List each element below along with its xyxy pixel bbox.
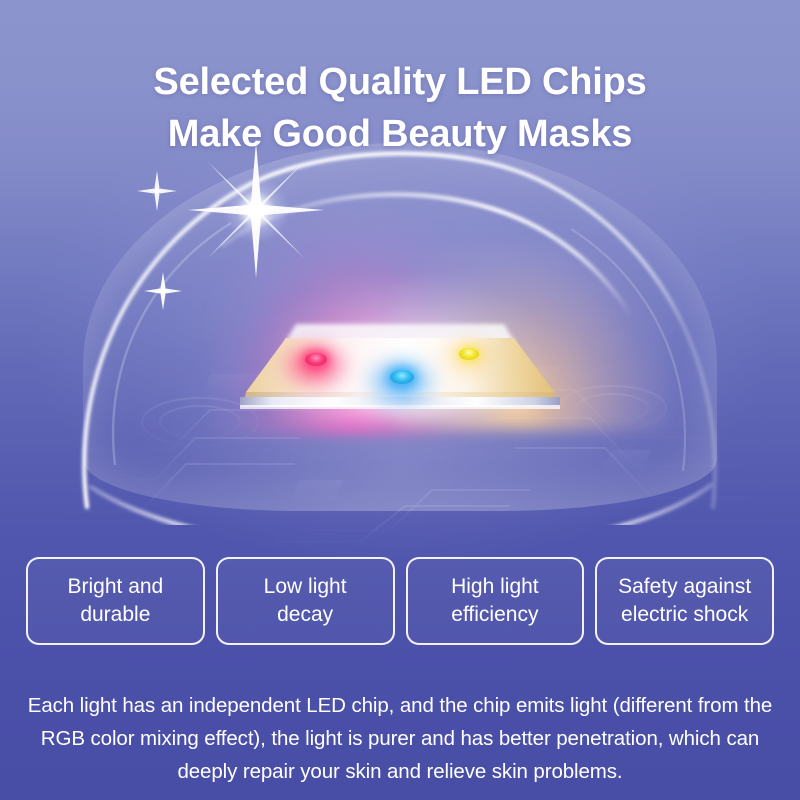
feature-line-2: durable [80,603,150,626]
led-chip-board [198,318,602,418]
banner-heading: Selected Quality LED Chips Make Good Bea… [0,57,800,160]
circuit-board-pattern [60,330,750,550]
feature-line-1: Safety against [618,575,751,598]
dome-glass-body [83,143,717,511]
feature-line-1: Low light [264,575,347,598]
feature-box-label: Bright and durable [68,573,164,629]
yellow-led-glow [440,334,500,380]
red-led-glow [278,338,352,392]
yellow-led [459,348,479,360]
feature-line-2: efficiency [451,603,538,626]
feature-box-safety-against-electric-shock[interactable]: Safety against electric shock [595,557,774,645]
feature-box-bright-and-durable[interactable]: Bright and durable [26,557,205,645]
sparkle-large-icon [186,140,326,280]
feature-box-label: Safety against electric shock [618,573,751,629]
sparkle-small-upper-icon [136,170,178,212]
description-paragraph: Each light has an independent LED chip, … [14,689,786,789]
feature-box-row: Bright and durable Low light decay High … [26,557,774,645]
feature-box-label: Low light decay [264,573,347,629]
sparkle-small-lower-icon [142,270,184,312]
feature-box-low-light-decay[interactable]: Low light decay [216,557,395,645]
glass-dome [55,135,745,525]
heading-line-2: Make Good Beauty Masks [0,109,800,161]
blue-led-glow [362,353,440,411]
pink-light-glow [210,215,500,435]
feature-line-1: Bright and [68,575,164,598]
feature-line-2: electric shock [621,603,748,626]
warm-light-glow [395,245,670,430]
feature-line-2: decay [277,603,333,626]
blue-led [390,370,414,384]
red-led [305,353,327,366]
led-chip-product-banner: Selected Quality LED Chips Make Good Bea… [0,0,800,800]
white-core-glow [270,280,540,420]
feature-line-1: High light [451,575,539,598]
heading-line-1: Selected Quality LED Chips [153,61,646,103]
feature-box-high-light-efficiency[interactable]: High light efficiency [406,557,585,645]
feature-box-label: High light efficiency [451,573,539,629]
